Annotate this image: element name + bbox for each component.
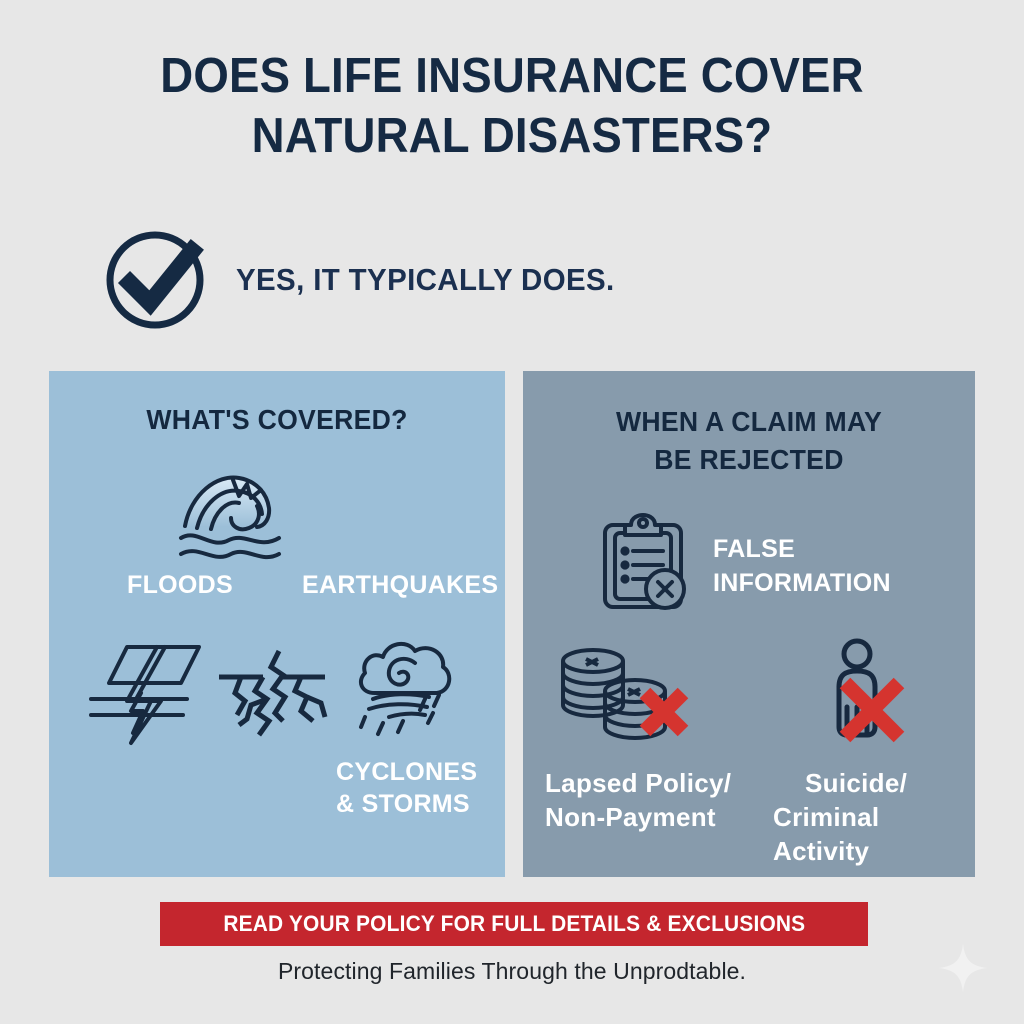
covered-label-earthquakes: EARTHQUAKES xyxy=(302,569,498,601)
panel-rejected-heading-line1: WHEN A CLAIM MAY xyxy=(616,406,882,437)
answer-row: YES, IT TYPICALLY DOES. xyxy=(100,225,635,335)
policy-disclaimer-banner: READ YOUR POLICY FOR FULL DETAILS & EXCL… xyxy=(160,902,868,946)
covered-label-floods: FLOODS xyxy=(127,569,233,601)
panel-covered: WHAT'S COVERED? FLOODS EARTHQUAK xyxy=(49,371,505,877)
lightning-icon xyxy=(87,639,203,747)
rejected-label-false-line1: FALSE xyxy=(713,533,795,565)
clipboard-x-icon xyxy=(599,513,695,613)
answer-text: YES, IT TYPICALLY DOES. xyxy=(236,262,615,298)
cyclone-cloud-icon xyxy=(349,633,459,743)
title-line-2: NATURAL DISASTERS? xyxy=(92,106,933,166)
rejected-label-false-line2: INFORMATION xyxy=(713,567,891,599)
ground-crack-icon xyxy=(217,643,329,743)
panel-rejected-heading-line2: BE REJECTED xyxy=(654,444,843,475)
rejected-label-suicide-line2: Criminal Activity xyxy=(773,800,975,868)
policy-disclaimer-text: READ YOUR POLICY FOR FULL DETAILS & EXCL… xyxy=(223,911,805,937)
panel-rejected: WHEN A CLAIM MAY BE REJECTED xyxy=(523,371,975,877)
panel-rejected-heading: WHEN A CLAIM MAY BE REJECTED xyxy=(534,403,963,479)
wave-icon xyxy=(177,466,285,566)
coins-x-icon xyxy=(553,643,685,743)
person-x-icon xyxy=(821,639,931,743)
rejected-label-lapsed-line2: Non-Payment xyxy=(545,800,716,834)
page-title: DOES LIFE INSURANCE COVER NATURAL DISAST… xyxy=(92,46,933,166)
covered-label-cyclones-line2: & STORMS xyxy=(336,788,470,820)
tagline: Protecting Families Through the Unprodta… xyxy=(0,958,1024,985)
covered-label-cyclones-line1: CYCLONES xyxy=(336,756,477,788)
title-line-1: DOES LIFE INSURANCE COVER xyxy=(160,49,863,103)
rejected-label-suicide-line1: Suicide/ xyxy=(805,766,907,800)
infographic-canvas: DOES LIFE INSURANCE COVER NATURAL DISAST… xyxy=(0,0,1024,1024)
rejected-label-lapsed-line1: Lapsed Policy/ xyxy=(545,766,731,800)
sparkle-icon xyxy=(935,940,991,996)
panel-covered-heading: WHAT'S COVERED? xyxy=(60,401,493,439)
check-circle-icon xyxy=(100,225,210,335)
